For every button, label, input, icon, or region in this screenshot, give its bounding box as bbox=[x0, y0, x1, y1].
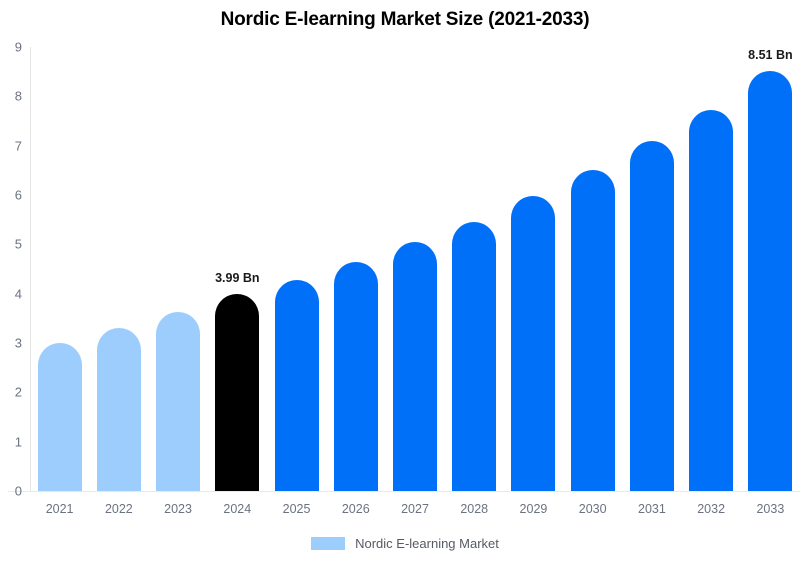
x-axis-tick-label: 2021 bbox=[46, 502, 74, 516]
x-axis-tick-label: 2031 bbox=[638, 502, 666, 516]
x-axis-tick-label: 2025 bbox=[283, 502, 311, 516]
chart-legend: Nordic E-learning Market bbox=[0, 536, 810, 551]
x-axis-tick-label: 2027 bbox=[401, 502, 429, 516]
x-axis-tick-label: 2026 bbox=[342, 502, 370, 516]
bar-2027[interactable] bbox=[393, 242, 437, 491]
bar-2030[interactable] bbox=[571, 170, 615, 491]
bar-2022[interactable] bbox=[97, 328, 141, 491]
y-axis-tick-label: 3 bbox=[0, 336, 22, 351]
x-axis-tick-label: 2029 bbox=[520, 502, 548, 516]
x-axis-tick-label: 2024 bbox=[223, 502, 251, 516]
y-axis-tick-label: 8 bbox=[0, 89, 22, 104]
y-axis-tick-label: 4 bbox=[0, 286, 22, 301]
bar-2024[interactable] bbox=[215, 294, 259, 491]
x-axis-tick-label: 2022 bbox=[105, 502, 133, 516]
y-axis-tick-label: 9 bbox=[0, 40, 22, 55]
bar-2029[interactable] bbox=[511, 196, 555, 491]
x-axis-tick-label: 2023 bbox=[164, 502, 192, 516]
bar-2025[interactable] bbox=[275, 280, 319, 491]
bar-2032[interactable] bbox=[689, 110, 733, 491]
y-axis-tick-label: 7 bbox=[0, 138, 22, 153]
chart-container: Nordic E-learning Market Size (2021-2033… bbox=[0, 0, 810, 562]
legend-label: Nordic E-learning Market bbox=[355, 536, 499, 551]
legend-swatch-icon bbox=[311, 537, 345, 550]
y-axis-tick-label: 5 bbox=[0, 237, 22, 252]
x-axis-tick-label: 2033 bbox=[756, 502, 784, 516]
y-axis-tick-label: 0 bbox=[0, 484, 22, 499]
y-axis-tick-label: 6 bbox=[0, 188, 22, 203]
bar-value-label-2024: 3.99 Bn bbox=[215, 271, 259, 285]
y-axis-tick-label: 2 bbox=[0, 385, 22, 400]
x-axis-tick-label: 2028 bbox=[460, 502, 488, 516]
x-axis-line bbox=[8, 491, 800, 492]
x-axis-tick-label: 2030 bbox=[579, 502, 607, 516]
bar-2033[interactable] bbox=[748, 71, 792, 491]
legend-item[interactable]: Nordic E-learning Market bbox=[311, 536, 499, 551]
x-axis-tick-label: 2032 bbox=[697, 502, 725, 516]
bar-2031[interactable] bbox=[630, 141, 674, 491]
bar-2021[interactable] bbox=[38, 343, 82, 491]
plot-area bbox=[30, 47, 800, 491]
bar-2026[interactable] bbox=[334, 262, 378, 491]
chart-title: Nordic E-learning Market Size (2021-2033… bbox=[0, 9, 810, 31]
bar-2028[interactable] bbox=[452, 222, 496, 491]
bar-2023[interactable] bbox=[156, 312, 200, 491]
y-axis-tick-label: 1 bbox=[0, 434, 22, 449]
bar-value-label-2033: 8.51 Bn bbox=[748, 48, 792, 62]
